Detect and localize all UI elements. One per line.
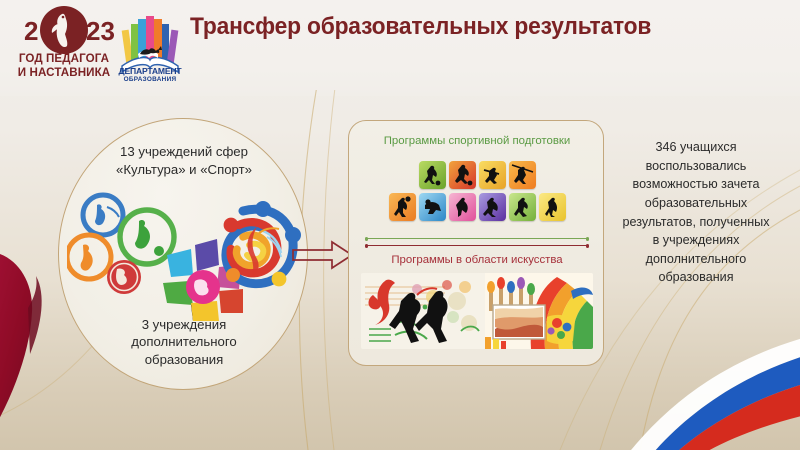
logo-caption-line2: И НАСТАВНИКА [12,66,116,80]
sports-culture-emblems [67,191,301,323]
transfer-arrow-icon [292,240,354,270]
logo-department-of-education: ДЕПАРТАМЕНТ ОБРАЗОВАНИЯ [118,10,182,88]
stats-line-3: возможностью зачета [598,175,794,194]
sport-programs-label: Программы спортивной подготовки [349,135,605,149]
oval-bottom-caption: 3 учреждения дополнительного образования [79,316,289,369]
stats-line-4: образовательных [598,194,794,213]
oval-bottom-line2: дополнительного [79,333,289,351]
stats-line-5: результатов, полученных [598,213,794,232]
tile-gymnastics-pictogram [449,193,476,221]
tile-row-1 [349,161,605,189]
oval-top-line1: 13 учреждений сфер [69,143,299,161]
stats-line-2: воспользовались [598,157,794,176]
divider-green [367,238,587,239]
institutions-oval: 13 учреждений сфер «Культура» и «Спорт» [58,118,308,390]
programs-panel: Программы спортивной подготовки [348,120,604,366]
dep-logo-line1: ДЕПАРТАМЕНТ [116,66,184,76]
divider-red [367,245,587,246]
tile-skating-pictogram [479,193,506,221]
stats-line-7: дополнительного [598,250,794,269]
dep-logo-line2: ОБРАЗОВАНИЯ [116,76,184,83]
tile-row-2 [349,193,605,221]
statistics-text-block: 346 учащихся воспользовались возможность… [598,138,794,287]
oval-top-line2: «Культура» и «Спорт» [69,161,299,179]
tile-baseball-pictogram [479,161,506,189]
oval-top-caption: 13 учреждений сфер «Культура» и «Спорт» [69,143,299,179]
art-programs-label: Программы в области искусства [349,254,605,268]
tile-javelin-pictogram [509,161,536,189]
page-title: Трансфер образовательных результатов [190,13,590,41]
tile-basketball-pictogram [389,193,416,221]
stats-line-6: в учреждениях [598,231,794,250]
oval-bottom-line1: 3 учреждения [79,316,289,334]
tile-dancing-pictogram [539,193,566,221]
tile-football-pictogram [419,161,446,189]
tile-soccer-kick-pictogram [449,161,476,189]
oval-bottom-line3: образования [79,351,289,369]
tile-swimming-pictogram [419,193,446,221]
logo-year-digits-right: 23 [86,16,115,46]
slide-canvas: 2 23 ГОД ПЕДАГОГА И НАСТАВНИКА [0,0,800,450]
tile-running-pictogram [509,193,536,221]
stats-line-1: 346 учащихся [598,138,794,157]
logo-year-of-teacher: 2 23 ГОД ПЕДАГОГА И НАСТАВНИКА [12,4,116,88]
stats-line-8: образования [598,268,794,287]
logo-caption-line1: ГОД ПЕДАГОГА [12,52,116,66]
sport-pictogram-tiles [349,161,605,224]
colored-books-icon [122,16,179,64]
logo-year-digits-left: 2 [24,16,38,46]
arts-collage-image [361,273,593,349]
